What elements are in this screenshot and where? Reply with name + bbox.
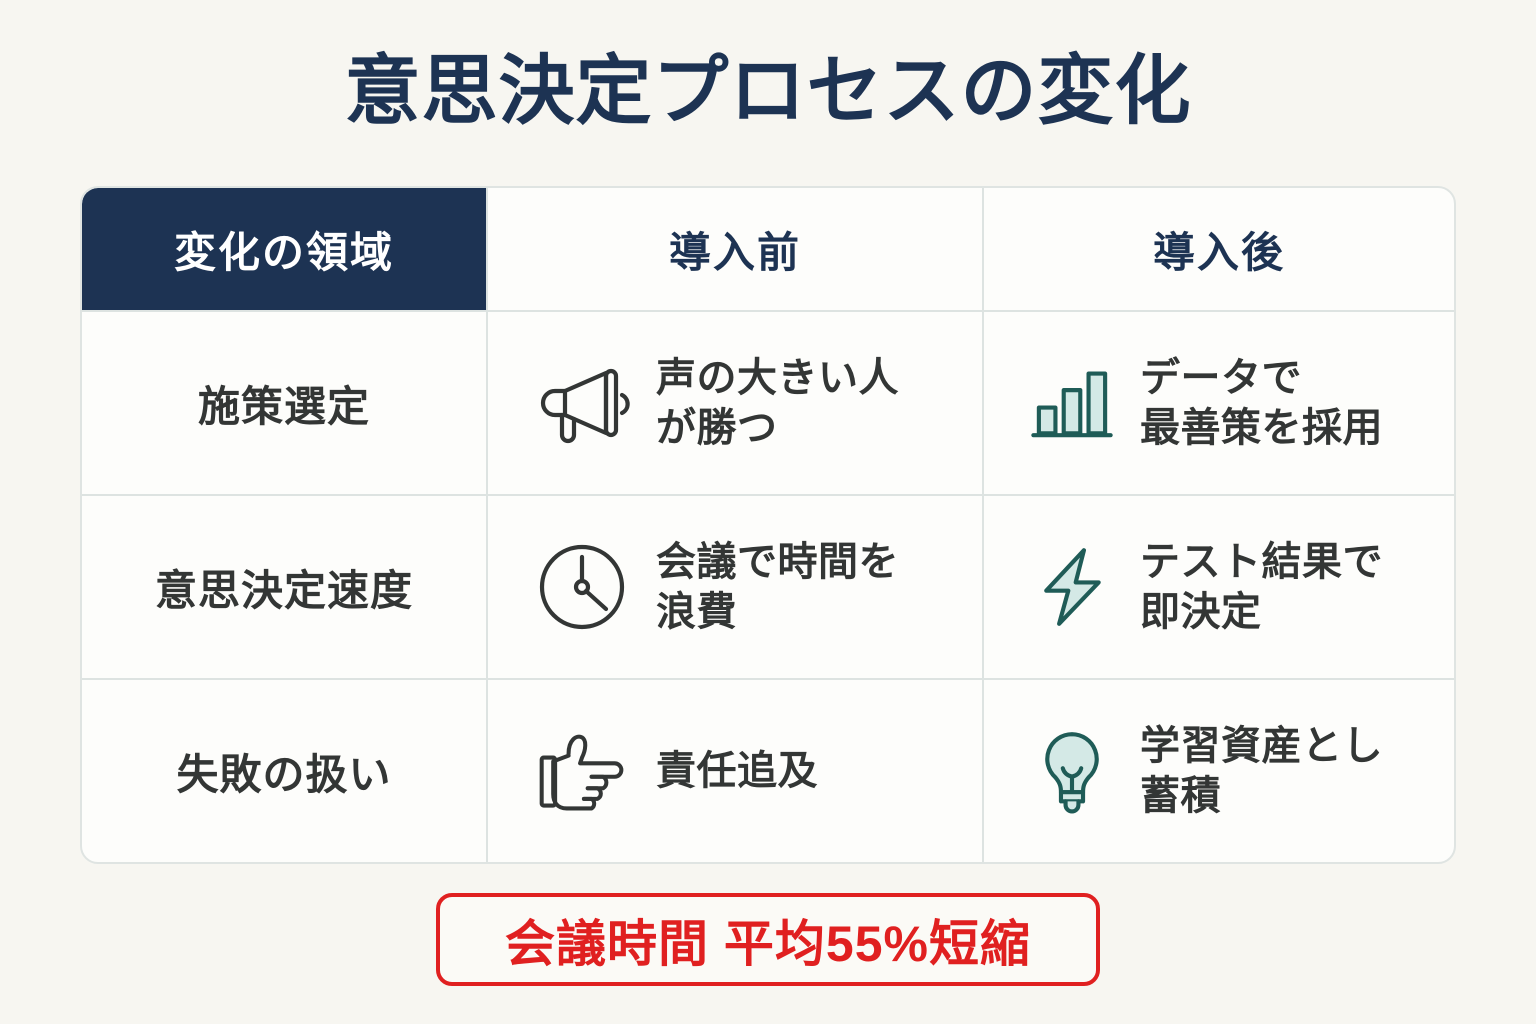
clock-icon	[530, 535, 634, 639]
comparison-table: 変化の領域 導入前 導入後 施策選定	[80, 186, 1456, 864]
badge-text: 会議時間 平均55%短縮	[505, 904, 1031, 976]
lightbulb-icon	[1026, 725, 1118, 817]
row-before-cell: 声の大きい人が勝つ	[486, 312, 982, 494]
row-label-cell: 意思決定速度	[82, 496, 486, 678]
row-label: 意思決定速度	[82, 557, 486, 618]
row-after-cell: 学習資産とし蓄積	[982, 680, 1454, 862]
pointing-hand-icon	[530, 719, 634, 823]
row-before-text: 会議で時間を浪費	[656, 537, 899, 637]
row-label-cell: 施策選定	[82, 312, 486, 494]
row-after-cell: テスト結果で即決定	[982, 496, 1454, 678]
row-label: 施策選定	[82, 373, 486, 434]
table-row: 施策選定 声の大きい人が勝つ	[82, 310, 1454, 494]
row-before-text: 責任追及	[656, 746, 818, 796]
highlight-badge: 会議時間 平均55%短縮	[436, 893, 1100, 986]
row-after-cell: データで最善策を採用	[982, 312, 1454, 494]
row-after-text: テスト結果で即決定	[1140, 537, 1383, 637]
row-before-cell: 責任追及	[486, 680, 982, 862]
row-before-cell: 会議で時間を浪費	[486, 496, 982, 678]
table-row: 意思決定速度 会議で時間を浪費	[82, 494, 1454, 678]
header-cell-area: 変化の領域	[82, 188, 486, 310]
infographic-page: 意思決定プロセスの変化 変化の領域 導入前 導入後 施策選定	[0, 0, 1536, 1024]
megaphone-icon	[530, 351, 634, 455]
table-row: 失敗の扱い 責任追及	[82, 678, 1454, 862]
table-header-row: 変化の領域 導入前 導入後	[82, 188, 1454, 310]
header-label-after: 導入後	[984, 219, 1454, 280]
header-label-before: 導入前	[488, 219, 982, 280]
header-cell-after: 導入後	[982, 188, 1454, 310]
row-label-cell: 失敗の扱い	[82, 680, 486, 862]
lightning-bolt-icon	[1026, 541, 1118, 633]
header-label-area: 変化の領域	[174, 219, 394, 280]
header-cell-before: 導入前	[486, 188, 982, 310]
row-before-text: 声の大きい人が勝つ	[656, 353, 899, 453]
row-after-text: 学習資産とし蓄積	[1140, 721, 1383, 821]
row-label: 失敗の扱い	[82, 741, 486, 802]
bar-chart-icon	[1026, 357, 1118, 449]
row-after-text: データで最善策を採用	[1140, 353, 1383, 453]
page-title: 意思決定プロセスの変化	[0, 44, 1536, 140]
